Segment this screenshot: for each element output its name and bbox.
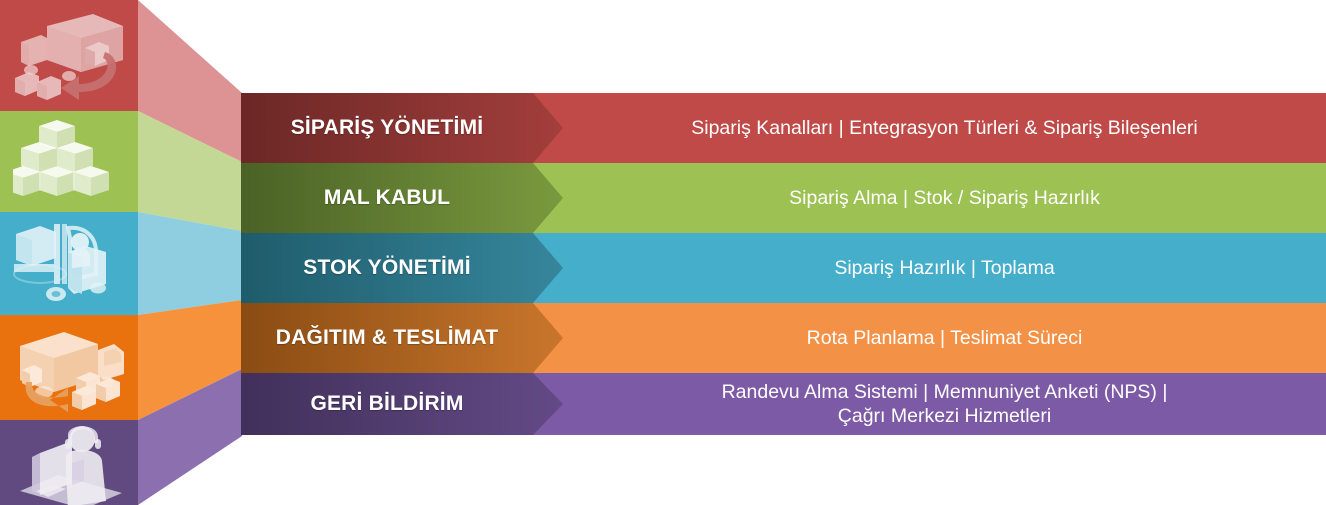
row-label-chevron[interactable]: DAĞITIM & TESLİMAT bbox=[241, 303, 563, 373]
funnel-connectors bbox=[138, 0, 242, 505]
row-description: Rota Planlama | Teslimat Süreci bbox=[563, 303, 1326, 373]
row-label-chevron[interactable]: MAL KABUL bbox=[241, 163, 563, 233]
process-row: MAL KABUL Sipariş Alma | Stok / Sipariş … bbox=[241, 163, 1326, 233]
row-label-chevron[interactable]: SİPARİŞ YÖNETİMİ bbox=[241, 93, 563, 163]
row-description-line: Çağrı Merkezi Hizmetleri bbox=[722, 404, 1168, 428]
process-row: SİPARİŞ YÖNETİMİ Sipariş Kanalları | Ent… bbox=[241, 93, 1326, 163]
icon-column bbox=[0, 0, 138, 505]
row-description-line: Sipariş Kanalları | Entegrasyon Türleri … bbox=[691, 116, 1198, 140]
icon-tile-dagitim-teslimat bbox=[0, 315, 138, 420]
row-description-line: Sipariş Hazırlık | Toplama bbox=[834, 256, 1054, 280]
row-description-line: Rota Planlama | Teslimat Süreci bbox=[807, 326, 1083, 350]
row-description-line: Randevu Alma Sistemi | Memnuniyet Anketi… bbox=[722, 380, 1168, 404]
icon-tile-siparis-yonetimi bbox=[0, 0, 138, 111]
row-description: Sipariş Kanalları | Entegrasyon Türleri … bbox=[563, 93, 1326, 163]
row-label-text: GERİ BİLDİRİM bbox=[241, 373, 533, 435]
process-row: GERİ BİLDİRİM Randevu Alma Sistemi | Mem… bbox=[241, 373, 1326, 435]
process-row: DAĞITIM & TESLİMAT Rota Planlama | Tesli… bbox=[241, 303, 1326, 373]
call-center-agent-icon bbox=[10, 420, 128, 505]
process-flow-diagram: SİPARİŞ YÖNETİMİ Sipariş Kanalları | Ent… bbox=[0, 0, 1326, 505]
process-row: STOK YÖNETİMİ Sipariş Hazırlık | Toplama bbox=[241, 233, 1326, 303]
row-label-text: DAĞITIM & TESLİMAT bbox=[241, 303, 533, 373]
process-rows: SİPARİŞ YÖNETİMİ Sipariş Kanalları | Ent… bbox=[241, 0, 1326, 505]
row-description: Randevu Alma Sistemi | Memnuniyet Anketi… bbox=[563, 373, 1326, 435]
row-label-text: STOK YÖNETİMİ bbox=[241, 233, 533, 303]
row-label-text: MAL KABUL bbox=[241, 163, 533, 233]
row-description: Sipariş Alma | Stok / Sipariş Hazırlık bbox=[563, 163, 1326, 233]
icon-tile-mal-kabul bbox=[0, 111, 138, 212]
row-description-line: Sipariş Alma | Stok / Sipariş Hazırlık bbox=[789, 186, 1100, 210]
icon-tile-stok-yonetimi bbox=[0, 212, 138, 315]
stacked-boxes-pyramid-icon bbox=[13, 118, 125, 206]
icon-tile-geri-bildirim bbox=[0, 420, 138, 505]
row-label-chevron[interactable]: STOK YÖNETİMİ bbox=[241, 233, 563, 303]
row-description: Sipariş Hazırlık | Toplama bbox=[563, 233, 1326, 303]
delivery-truck-boxes-return-icon bbox=[7, 8, 131, 104]
forklift-operator-icon bbox=[10, 218, 128, 310]
delivery-van-parcels-icon bbox=[6, 320, 132, 416]
row-label-chevron[interactable]: GERİ BİLDİRİM bbox=[241, 373, 563, 435]
row-label-text: SİPARİŞ YÖNETİMİ bbox=[241, 93, 533, 163]
